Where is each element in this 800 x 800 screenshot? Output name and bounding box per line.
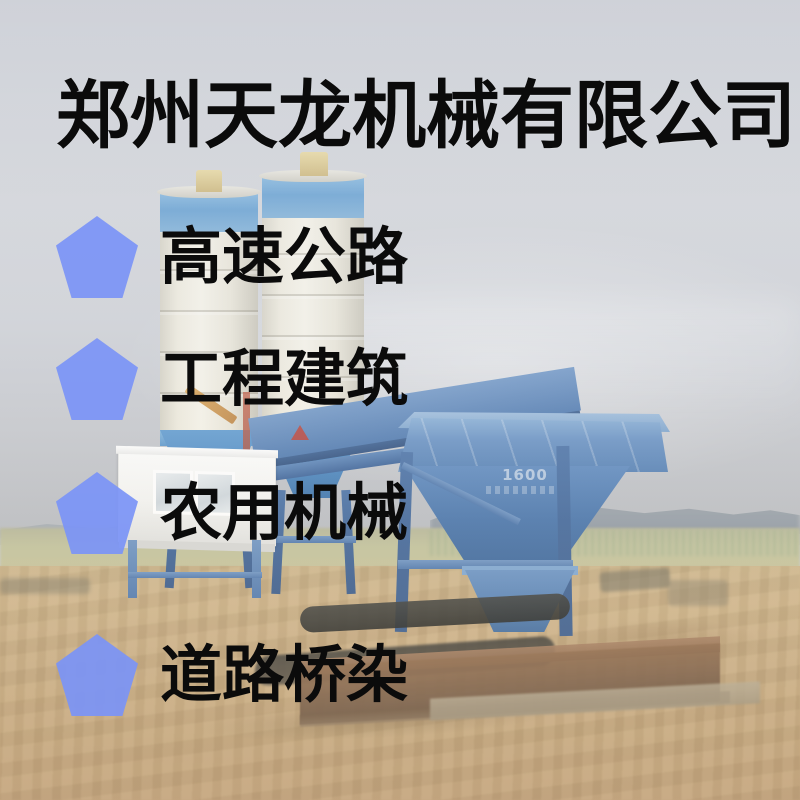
feature-label-2: 工程建筑 [160,346,408,412]
pentagon-bullet-icon [56,634,138,716]
pentagon-bullet-icon [56,472,138,554]
pentagon-bullet-icon [56,216,138,298]
page-title: 郑州天龙机械有限公司 [56,76,796,156]
feature-item-4[interactable]: 道路桥染 [56,632,408,718]
feature-label-3: 农用机械 [160,480,408,546]
feature-label-4: 道路桥染 [160,642,408,708]
feature-label-1: 高速公路 [160,224,408,290]
feature-item-2[interactable]: 工程建筑 [56,336,408,422]
product-poster: 1600 郑州天龙机械有限公司 高速公路 [0,0,800,800]
pentagon-bullet-icon [56,338,138,420]
feature-item-1[interactable]: 高速公路 [56,214,408,300]
feature-item-3[interactable]: 农用机械 [56,470,408,556]
text-overlay: 郑州天龙机械有限公司 高速公路 工程建筑 农用机械 道路桥染 [0,0,800,800]
